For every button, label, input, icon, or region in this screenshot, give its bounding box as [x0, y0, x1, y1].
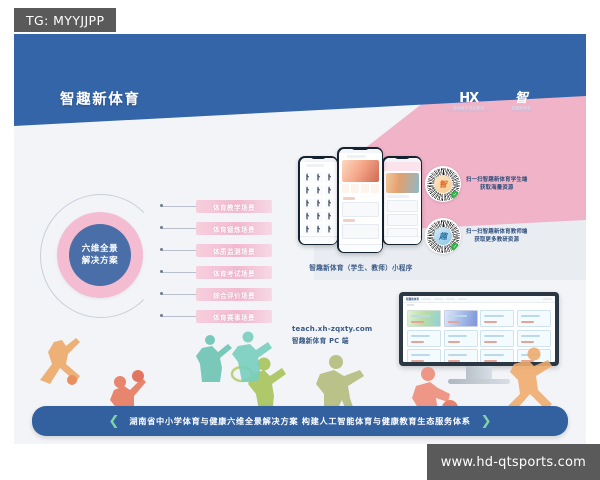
phones-caption: 智趣新体育（学生、教师）小程序: [295, 262, 427, 272]
qr-badge-student[interactable]: 智 ✓ 扫一扫智趣新体育学生端 获取海量资源: [425, 166, 528, 202]
nav-item[interactable]: [422, 298, 431, 300]
logo-hx-mark: HX: [459, 92, 478, 105]
phone-right-header: [384, 162, 421, 171]
poster-canvas: 智趣新体育 HX 湖南新华书店集团 HUNAN XINHUA BOOKSTORE…: [0, 0, 600, 480]
grid-cell: [314, 198, 323, 209]
qr-code-icon-student[interactable]: 智 ✓: [425, 166, 461, 202]
silhouette-soccer-player: [32, 334, 92, 386]
connector-6: [162, 316, 196, 317]
silhouette-badminton-partner: [228, 330, 274, 382]
scene-label-2: 体育锻炼场景: [213, 224, 255, 234]
grid-cell: [314, 211, 323, 222]
connector-5: [162, 294, 196, 295]
phone-mockup-center: [337, 147, 383, 253]
logo-hunan-xinhua: HX 湖南新华书店集团 HUNAN XINHUA BOOKSTORE GROUP: [444, 92, 494, 113]
wechat-icon: ✓: [451, 191, 459, 199]
logo-swoosh-icon: 智: [515, 92, 528, 105]
connector-dot-5: [160, 292, 163, 295]
phone-left-title: [306, 164, 325, 167]
connector-4: [162, 272, 196, 273]
phone-notch-left: [311, 156, 325, 159]
scene-tag-training[interactable]: 体育锻炼场景: [196, 222, 272, 235]
poster-artboard: 智趣新体育 HX 湖南新华书店集团 HUNAN XINHUA BOOKSTORE…: [14, 34, 586, 444]
connector-dot-4: [160, 270, 163, 273]
phone-tabbar-left[interactable]: [300, 236, 337, 244]
connector-3: [162, 250, 196, 251]
phone-left-icon-grid: [300, 169, 337, 238]
scene-tag-competition[interactable]: 体育赛事场景: [196, 310, 272, 323]
browser-topbar: 智趣新体育: [403, 296, 555, 303]
scene-tag-evaluation[interactable]: 综合评价场景: [196, 288, 272, 301]
phone-right-card-1: [387, 200, 418, 212]
phone-tabbar-center[interactable]: [339, 244, 382, 252]
grid-cell: [325, 172, 334, 183]
logo-zhiqu-sports: 智 智趣新体育 ZHIQUXINTIYU: [512, 92, 532, 113]
qr-student-line2: 获取海量资源: [466, 184, 528, 192]
connector-1: [162, 206, 196, 207]
content-card[interactable]: [444, 310, 478, 327]
grid-cell: [303, 185, 312, 196]
qr-text-student: 扫一扫智趣新体育学生端 获取海量资源: [466, 176, 528, 192]
phone-center-card-1: [342, 202, 379, 217]
grid-cell: [325, 198, 334, 209]
scene-tag-exam[interactable]: 体育考试场景: [196, 266, 272, 279]
content-card[interactable]: [517, 310, 551, 327]
watermark-bottom-right: www.hd-qtsports.com: [427, 444, 600, 480]
wechat-icon: ✓: [451, 243, 459, 251]
phone-mockup-right: [382, 156, 422, 245]
phone-notch-right: [395, 156, 409, 159]
qr-text-teacher: 扫一扫智趣新体育教师端 获取更多教研资源: [466, 228, 528, 244]
phone-right-photo: [386, 173, 419, 193]
grid-cell: [314, 224, 323, 235]
connector-2: [162, 228, 196, 229]
content-card[interactable]: [407, 349, 441, 362]
content-card[interactable]: [407, 330, 441, 347]
quick-action: [371, 184, 379, 193]
grid-cell: [303, 224, 312, 235]
content-card[interactable]: [407, 310, 441, 327]
grid-cell: [303, 211, 312, 222]
phone-right-line-1: [387, 195, 409, 198]
logo-group: HX 湖南新华书店集团 HUNAN XINHUA BOOKSTORE GROUP…: [444, 86, 564, 120]
phone-tabbar-right[interactable]: [384, 236, 421, 244]
phone-screen-center: [339, 149, 382, 252]
solution-line-2: 解决方案: [82, 255, 118, 267]
connector-dot-6: [160, 314, 163, 317]
content-card[interactable]: [444, 330, 478, 347]
grid-cell: [325, 211, 334, 222]
qr-core-logo: 智: [434, 175, 452, 193]
qr-student-line1: 扫一扫智趣新体育学生端: [466, 176, 528, 184]
logo-zq-en: ZHIQUXINTIYU: [512, 111, 531, 113]
grid-cell: [303, 172, 312, 183]
nav-item[interactable]: [434, 298, 443, 300]
logo-hx-en: HUNAN XINHUA BOOKSTORE GROUP: [445, 111, 492, 113]
page-title: 智趣新体育: [60, 88, 141, 109]
qr-teacher-line1: 扫一扫智趣新体育教师端: [466, 228, 528, 236]
pc-caption-group: teach.xh-zqxty.com 智趣新体育 PC 端: [292, 324, 372, 347]
phone-notch-center: [352, 147, 369, 150]
nav-item[interactable]: [458, 298, 467, 300]
connector-dot-3: [160, 248, 163, 251]
nav-item[interactable]: [543, 298, 552, 300]
qr-teacher-line2: 获取更多教研资源: [466, 236, 528, 244]
phone-center-section-1: [343, 197, 356, 200]
nav-item[interactable]: [446, 298, 455, 300]
bottom-banner-text: 湖南省中小学体育与健康六维全景解决方案 构建人工智能体育与健康教育生态服务体系: [129, 415, 470, 427]
browser-brand: 智趣新体育: [406, 297, 419, 301]
phone-center-section-2: [343, 219, 356, 222]
content-card[interactable]: [517, 330, 551, 347]
scene-label-6: 体育赛事场景: [213, 312, 255, 322]
scene-tag-teaching[interactable]: 体育教学场景: [196, 200, 272, 213]
qr-core-logo: 趣: [434, 227, 452, 245]
phone-right-card-2: [387, 214, 418, 226]
subnav-item[interactable]: [407, 304, 414, 306]
pc-caption: 智趣新体育 PC 端: [292, 336, 372, 347]
phone-screen-right: [384, 158, 421, 244]
connector-dot-1: [160, 204, 163, 207]
phone-center-hero-banner: [342, 160, 379, 182]
scene-label-1: 体育教学场景: [213, 202, 255, 212]
content-card[interactable]: [480, 310, 514, 327]
solution-line-1: 六维全景: [82, 243, 118, 255]
phone-center-title: [347, 155, 366, 158]
content-card[interactable]: [444, 349, 478, 362]
quick-action: [342, 184, 350, 193]
qr-badge-teacher[interactable]: 趣 ✓ 扫一扫智趣新体育教师端 获取更多教研资源: [425, 218, 528, 254]
grid-cell: [314, 185, 323, 196]
qr-code-icon-teacher[interactable]: 趣 ✓: [425, 218, 461, 254]
quick-action: [361, 184, 369, 193]
monitor-neck: [466, 366, 492, 379]
connector-dot-2: [160, 226, 163, 229]
phone-center-card-2: [342, 224, 379, 239]
grid-cell: [325, 224, 334, 235]
phone-screen-left: [300, 158, 337, 244]
grid-cell: [325, 185, 334, 196]
phone-center-quick-row: [339, 184, 382, 195]
watermark-top-left: TG: MYYJJPP: [14, 8, 116, 32]
scene-label-3: 体质监测场景: [213, 246, 255, 256]
grid-cell: [314, 172, 323, 183]
solution-ring-inner: 六维全景 解决方案: [69, 224, 131, 286]
content-card[interactable]: [480, 330, 514, 347]
leaf-right-icon: ❯: [481, 414, 492, 429]
scene-label-4: 体育考试场景: [213, 268, 255, 278]
quick-action: [351, 184, 359, 193]
leaf-left-icon: ❮: [108, 414, 119, 429]
silhouette-runner: [500, 346, 558, 410]
grid-cell: [303, 198, 312, 209]
phone-mockup-left: [298, 156, 338, 245]
scene-label-5: 综合评价场景: [213, 290, 255, 300]
pc-url: teach.xh-zqxty.com: [292, 324, 372, 336]
scene-tag-monitoring[interactable]: 体质监测场景: [196, 244, 272, 257]
bottom-banner: ❮ 湖南省中小学体育与健康六维全景解决方案 构建人工智能体育与健康教育生态服务体…: [32, 406, 568, 436]
